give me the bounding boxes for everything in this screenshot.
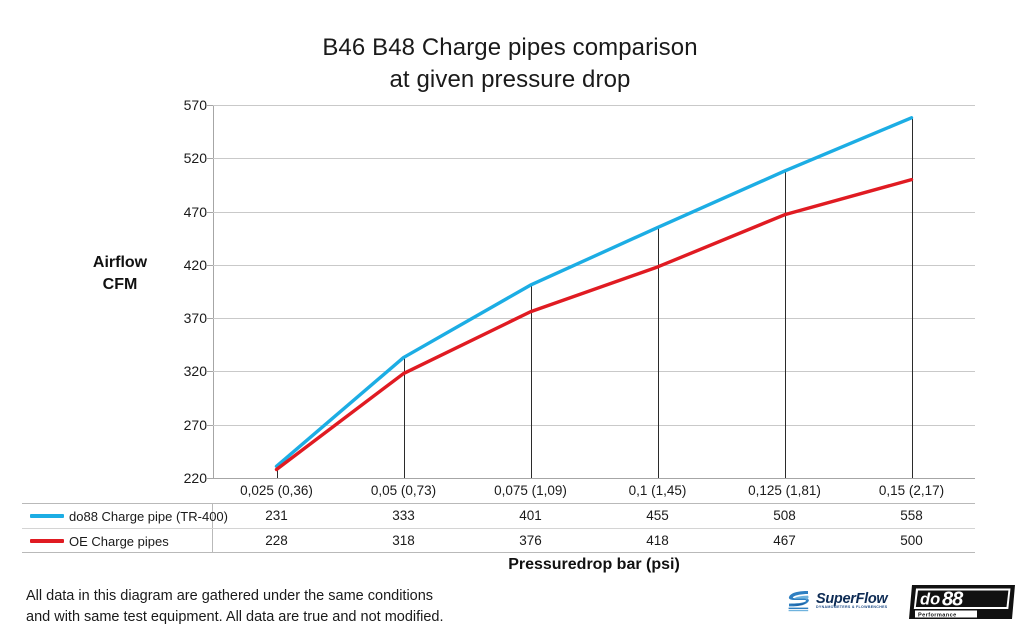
x-axis-category-label: 0,025 (0,36) [213,479,340,503]
y-axis-tick-labels: 570520470420370320270220 [155,105,207,479]
logo-group: SuperFlow DYNAMOMETERS & FLOWBENCHES do … [786,584,1016,624]
table-cell: 558 [848,504,975,528]
x-axis-category-label: 0,075 (1,09) [467,479,594,503]
x-axis-title: Pressuredrop bar (psi) [213,556,975,574]
chart-page: B46 B48 Charge pipes comparison at given… [0,0,1024,638]
x-axis-category-label: 0,125 (1,81) [721,479,848,503]
y-axis-tick-label: 270 [159,418,207,432]
table-cell: 500 [848,529,975,553]
x-axis-category-label: 0,15 (2,17) [848,479,975,503]
table-cell: 508 [721,504,848,528]
x-axis-category-label: 0,1 (1,45) [594,479,721,503]
do88-wordmark: do [920,591,940,609]
legend-item-oe: OE Charge pipes [22,529,213,553]
superflow-wordmark: SuperFlow DYNAMOMETERS & FLOWBENCHES [816,592,888,610]
y-axis-tick-label: 470 [159,205,207,219]
superflow-subtitle: DYNAMOMETERS & FLOWBENCHES [816,606,888,610]
series-line-oe [277,180,912,470]
do88-subtitle: Performance [918,612,957,618]
superflow-logo: SuperFlow DYNAMOMETERS & FLOWBENCHES [786,586,894,616]
superflow-swoosh-icon [786,588,812,614]
table-cell: 318 [340,529,467,553]
y-axis-tick-label: 320 [159,364,207,378]
table-cell: 401 [467,504,594,528]
table-cell: 376 [467,529,594,553]
chart-title-line-1: B46 B48 Charge pipes comparison [180,32,840,64]
table-cell: 231 [213,504,340,528]
legend-swatch-blue [30,514,64,518]
table-cell: 418 [594,529,721,553]
chart-title: B46 B48 Charge pipes comparison at given… [180,32,840,95]
footnote: All data in this diagram are gathered un… [26,586,546,627]
data-table: do88 Charge pipe (TR-400) 23133340145550… [22,503,975,553]
chart-title-line-2: at given pressure drop [180,64,840,96]
table-values-oe: 228318376418467500 [213,529,975,553]
x-axis-category-label: 0,05 (0,73) [340,479,467,503]
series-line-do88 [277,118,912,466]
series-lines [213,105,975,478]
table-cell: 333 [340,504,467,528]
y-axis-tick-label: 570 [159,98,207,112]
legend-label-oe: OE Charge pipes [69,534,169,549]
footnote-line-2: and with same test equipment. All data a… [26,607,546,628]
legend-item-do88: do88 Charge pipe (TR-400) [22,504,213,528]
table-cell: 228 [213,529,340,553]
do88-numerals: 88 [942,589,964,611]
legend-label-do88: do88 Charge pipe (TR-400) [69,509,228,524]
table-cell: 455 [594,504,721,528]
y-axis-tick-label: 420 [159,258,207,272]
footnote-line-1: All data in this diagram are gathered un… [26,586,546,607]
table-row: OE Charge pipes 228318376418467500 [22,529,975,553]
table-row: do88 Charge pipe (TR-400) 23133340145550… [22,504,975,529]
do88-logo: do 88 Performance [908,584,1016,620]
y-axis-tick-label: 370 [159,311,207,325]
x-axis-category-labels: 0,025 (0,36)0,05 (0,73)0,075 (1,09)0,1 (… [213,479,975,504]
y-axis-tick-label: 220 [159,471,207,485]
plot-area [213,105,975,478]
table-cell: 467 [721,529,848,553]
legend-swatch-red [30,539,64,543]
y-axis-tick-label: 520 [159,151,207,165]
superflow-name: SuperFlow [816,592,888,607]
table-values-do88: 231333401455508558 [213,504,975,528]
